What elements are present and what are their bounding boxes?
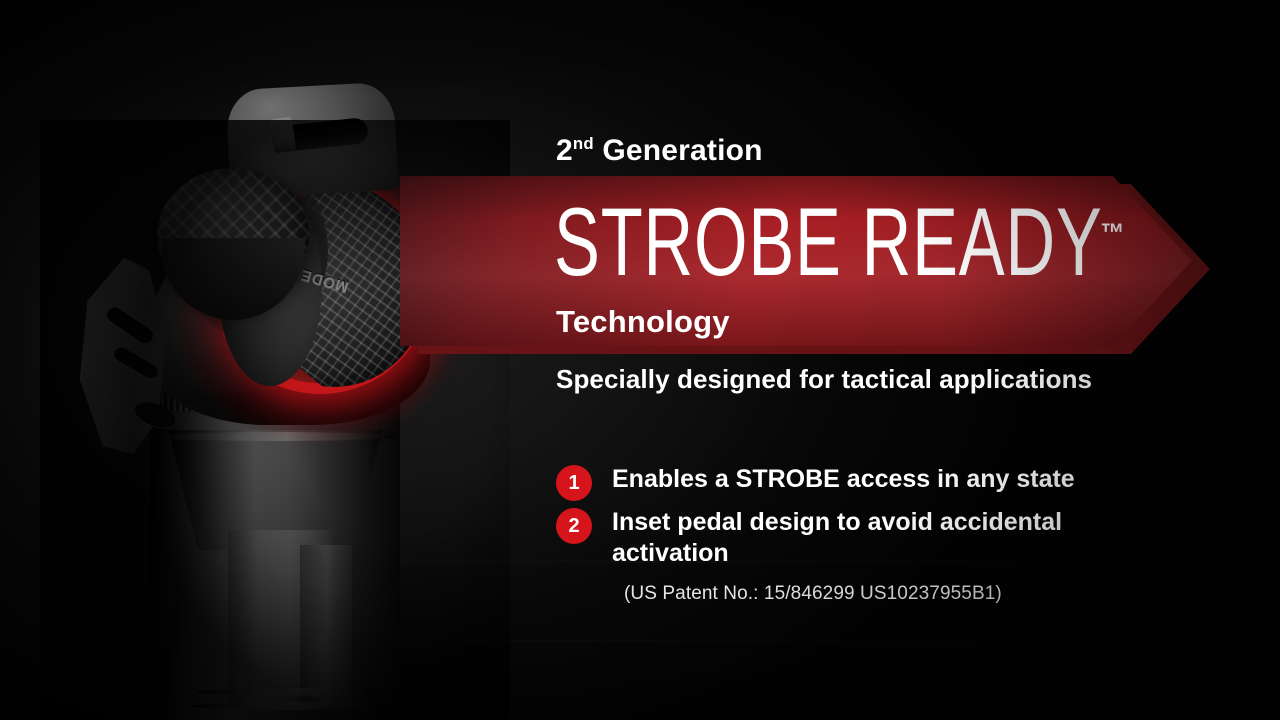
feature-list: 1 Enables a STROBE access in any state 2… [556, 464, 1196, 575]
eyebrow-ordinal: nd [573, 134, 594, 153]
page-title: STROBE READY™ [554, 186, 1122, 291]
list-item: 1 Enables a STROBE access in any state [556, 464, 1196, 501]
bullet-text: Inset pedal design to avoid accidental a… [612, 507, 1132, 569]
eyebrow-number: 2 [556, 134, 573, 167]
trademark-symbol: ™ [1100, 186, 1124, 282]
eyebrow-word: Generation [602, 134, 762, 167]
bullet-number-badge: 2 [556, 508, 592, 544]
list-item: 2 Inset pedal design to avoid accidental… [556, 507, 1196, 569]
tagline: Specially designed for tactical applicat… [556, 364, 1092, 395]
bullet-text: Enables a STROBE access in any state [612, 464, 1075, 495]
slide-canvas: MODE 2nd Generation STROBE READY™ Techno… [0, 0, 1280, 720]
bullet-number-badge: 1 [556, 465, 592, 501]
headline-text: STROBE READY [554, 189, 1103, 297]
headline-subtitle: Technology [556, 304, 730, 340]
text-panel: 2nd Generation STROBE READY™ Technology … [0, 0, 1280, 720]
patent-note: (US Patent No.: 15/846299 US10237955B1) [624, 583, 1002, 605]
eyebrow-generation: 2nd Generation [556, 134, 763, 168]
